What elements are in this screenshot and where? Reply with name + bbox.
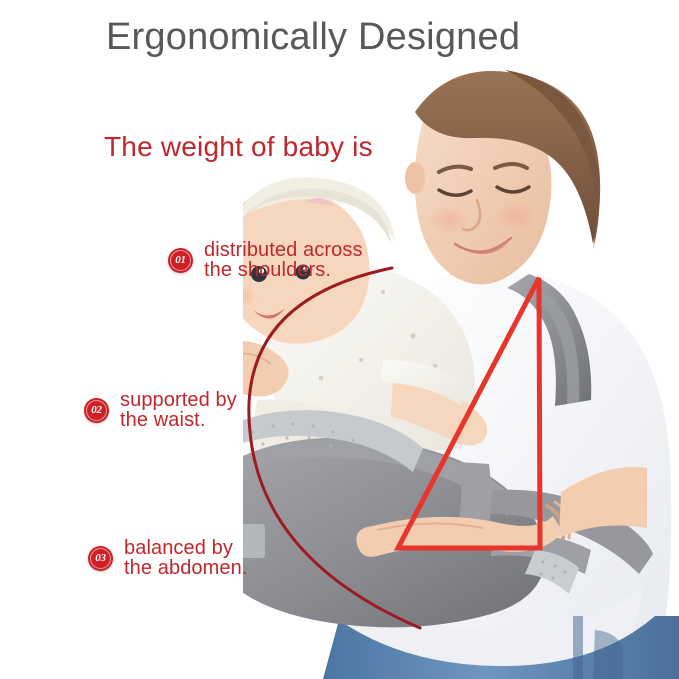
page-subtitle: The weight of baby is — [104, 131, 373, 163]
callout-text-01: distributed across the shoulders. — [204, 240, 363, 280]
callout-badge-02: 02 — [84, 398, 109, 423]
page-title: Ergonomically Designed — [106, 16, 520, 59]
infographic-root: Ergonomically Designed The weight of bab… — [0, 0, 679, 679]
callout-text-03: balanced by the abdomen. — [124, 538, 248, 578]
callout-number-03: 03 — [95, 552, 105, 564]
callout-badge-01: 01 — [168, 248, 193, 273]
callout-02: 02 supported by the waist. — [84, 390, 237, 430]
callout-number-01: 01 — [175, 254, 185, 266]
callout-number-02: 02 — [91, 404, 101, 416]
callout-03: 03 balanced by the abdomen. — [88, 538, 248, 578]
callout-01: 01 distributed across the shoulders. — [168, 240, 363, 280]
callout-badge-03: 03 — [88, 546, 113, 571]
callout-text-02: supported by the waist. — [120, 390, 237, 430]
